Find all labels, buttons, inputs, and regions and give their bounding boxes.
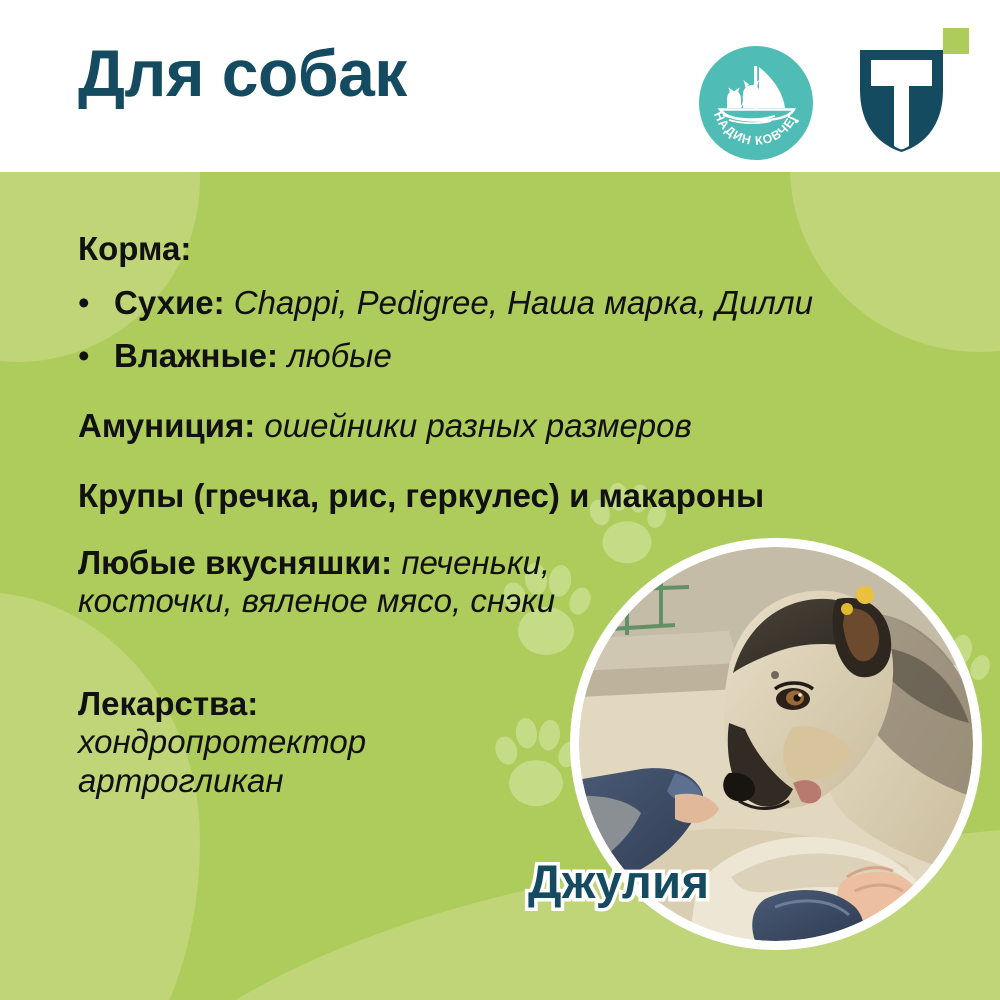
nadin-kovcheg-logo: НАДИН КОВЧЕГ xyxy=(697,44,815,162)
dry-food-value: Chappi, Pedigree, Наша марка, Дилли xyxy=(234,284,813,321)
list-item-dry-food: • Сухие: Chappi, Pedigree, Наша марка, Д… xyxy=(78,284,968,322)
list-item-treats: Любые вкусняшки: печеньки, косточки, вял… xyxy=(78,544,598,621)
food-heading: Корма: xyxy=(78,230,191,268)
grains-label: Крупы (гречка, рис, геркулес) и макароны xyxy=(78,477,764,514)
medicine-value: хондропротектор артрогликан xyxy=(78,723,366,798)
list-item-medicine: Лекарства: хондропротектор артрогликан xyxy=(78,685,518,800)
food-heading-label: Корма: xyxy=(78,230,191,267)
wet-food-value: любые xyxy=(287,337,392,374)
bullet-icon: • xyxy=(78,337,114,375)
wet-food-label: Влажные: xyxy=(114,337,278,374)
dog-name-caption: Джулия xyxy=(528,854,710,909)
ammunition-label: Амуниция: xyxy=(78,407,255,444)
list-item-ammunition: Амуниция: ошейники разных размеров xyxy=(78,407,692,445)
list-item-grains: Крупы (гречка, рис, геркулес) и макароны xyxy=(78,477,764,515)
bullet-icon: • xyxy=(78,284,114,322)
poster: Для собак xyxy=(0,0,1000,1000)
page-title: Для собак xyxy=(78,40,407,106)
ammunition-value: ошейники разных размеров xyxy=(264,407,691,444)
header-bar: Для собак xyxy=(0,0,1000,172)
dry-food-label: Сухие: xyxy=(114,284,225,321)
treats-label: Любые вкусняшки: xyxy=(78,544,392,581)
t-shield-logo xyxy=(850,28,978,158)
medicine-label: Лекарства: xyxy=(78,685,258,722)
list-item-wet-food: • Влажные: любые xyxy=(78,337,968,375)
